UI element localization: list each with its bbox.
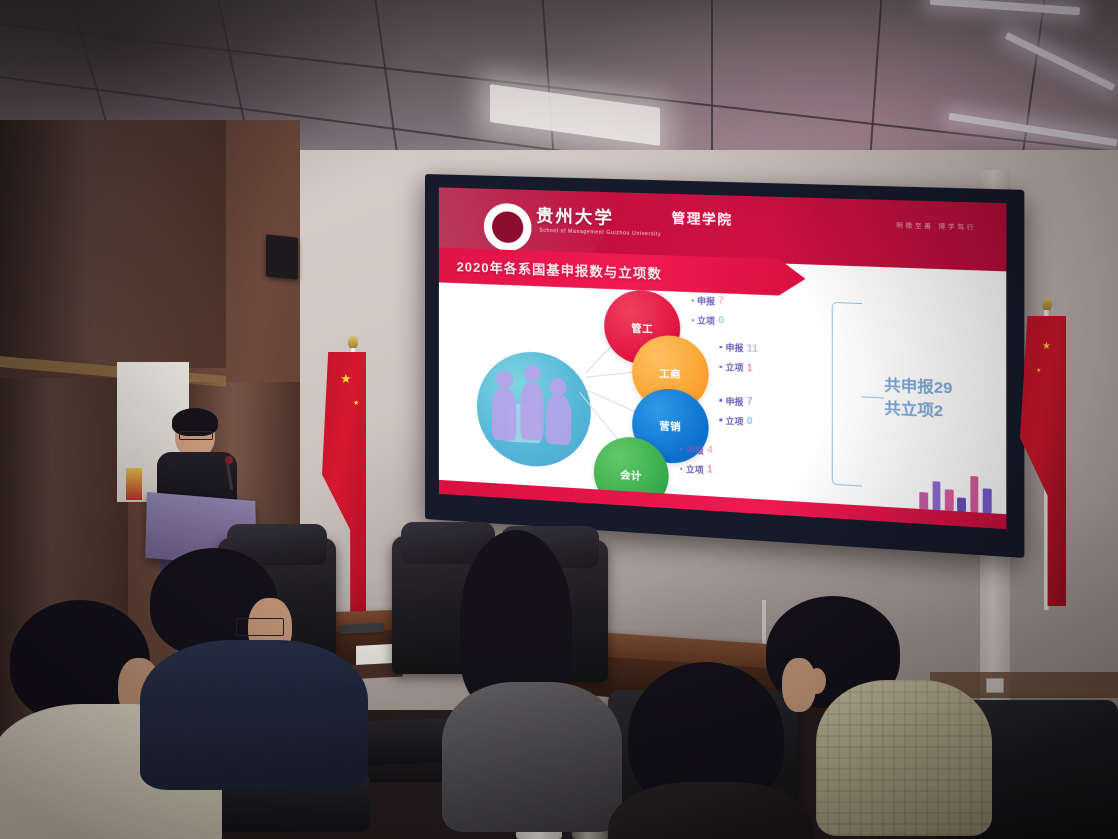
person-plaid-jacket bbox=[816, 680, 992, 836]
stat-label: 立项 bbox=[725, 361, 743, 374]
slide-title: 2020年各系国基申报数与立项数 bbox=[439, 255, 662, 282]
hub-figure-body bbox=[492, 387, 516, 440]
flag-star-icon: ★ bbox=[1042, 342, 1051, 352]
audience-member bbox=[752, 596, 972, 839]
person-jacket bbox=[442, 682, 622, 832]
audience-member bbox=[140, 548, 370, 798]
bullet-icon bbox=[720, 399, 723, 402]
seal-inner bbox=[492, 211, 524, 244]
school-motto: 明德至善 博学笃行 bbox=[896, 220, 976, 232]
stat-approved: 立项 1 bbox=[680, 462, 823, 483]
summary-bracket-stem bbox=[861, 396, 884, 399]
slide-body: 管工 工商 营销 会计 申报 bbox=[439, 282, 1006, 514]
flag-star-icon: ★ bbox=[353, 400, 359, 407]
summary-totals: 共申报29 共立项2 bbox=[884, 374, 952, 423]
stat-value: 1 bbox=[747, 362, 753, 374]
department-stats-3: 申报 4 立项 1 bbox=[680, 443, 823, 491]
department-name: 会计 bbox=[620, 466, 642, 483]
team-people-icon bbox=[476, 349, 590, 469]
presenter-glasses bbox=[179, 431, 213, 440]
department-name: 工商 bbox=[659, 365, 681, 381]
bullet-icon bbox=[720, 366, 723, 369]
wall-outlet bbox=[986, 678, 1004, 693]
stat-label: 申报 bbox=[697, 294, 715, 307]
university-name: 贵州大学 bbox=[536, 201, 614, 229]
stat-value: 0 bbox=[718, 315, 724, 327]
person-jacket bbox=[140, 640, 368, 790]
flag-star-icon: ★ bbox=[340, 372, 352, 385]
hub-figure-body bbox=[546, 394, 571, 446]
stat-value: 7 bbox=[718, 296, 724, 308]
stat-label: 申报 bbox=[725, 394, 743, 407]
bullet-icon bbox=[720, 346, 723, 349]
hub-figure-head bbox=[549, 378, 566, 396]
stat-label: 立项 bbox=[686, 463, 704, 476]
deco-bar bbox=[970, 476, 978, 513]
summary-bracket bbox=[832, 302, 862, 487]
bullet-icon bbox=[680, 448, 683, 451]
school-name: 管理学院 bbox=[672, 207, 733, 228]
bar-chart-graphic bbox=[920, 468, 992, 514]
conference-room-photo: 贵州大学 School of Management Guizhou Univer… bbox=[0, 0, 1118, 839]
stat-label: 立项 bbox=[725, 414, 743, 427]
university-seal-icon bbox=[484, 203, 531, 252]
bullet-icon bbox=[680, 467, 683, 470]
stat-label: 申报 bbox=[686, 443, 704, 456]
hub-figure-head bbox=[496, 371, 513, 389]
presentation-display[interactable]: 贵州大学 School of Management Guizhou Univer… bbox=[425, 174, 1024, 558]
stat-value: 0 bbox=[747, 416, 753, 428]
stat-value: 7 bbox=[747, 396, 753, 408]
deco-bar bbox=[983, 488, 991, 514]
total-approved: 共立项2 bbox=[884, 397, 952, 423]
presenter bbox=[155, 412, 239, 504]
stat-label: 申报 bbox=[725, 341, 743, 354]
department-stats-0: 申报 7 立项 0 bbox=[691, 294, 834, 339]
stat-applied: 申报 7 bbox=[691, 294, 834, 312]
slide-page-number: 14 bbox=[450, 472, 457, 478]
hub-figure-head bbox=[524, 365, 540, 382]
total-applied: 共申报29 bbox=[884, 374, 952, 400]
bullet-icon bbox=[691, 299, 694, 302]
podium-book bbox=[126, 468, 142, 500]
wood-panel bbox=[0, 120, 226, 368]
screen-bezel: 贵州大学 School of Management Guizhou Univer… bbox=[439, 187, 1006, 529]
department-name: 营销 bbox=[659, 418, 681, 435]
bullet-icon bbox=[720, 419, 723, 422]
flag-star-icon: ★ bbox=[1036, 368, 1041, 374]
department-name: 管工 bbox=[631, 319, 653, 335]
eyeglasses-icon bbox=[236, 618, 284, 636]
stat-value: 11 bbox=[747, 343, 758, 355]
person-face bbox=[782, 658, 816, 712]
presentation-slide: 贵州大学 School of Management Guizhou Univer… bbox=[439, 187, 1006, 529]
deco-bar bbox=[932, 482, 940, 511]
audience-member bbox=[448, 530, 618, 820]
deco-bar bbox=[945, 489, 953, 511]
microphone-head bbox=[225, 456, 233, 464]
stat-label: 立项 bbox=[697, 314, 715, 327]
stat-value: 1 bbox=[707, 464, 713, 476]
bullet-icon bbox=[691, 319, 694, 322]
deco-bar bbox=[920, 492, 928, 510]
stat-approved: 立项 0 bbox=[691, 314, 834, 332]
hub-figure-body bbox=[521, 382, 544, 440]
deco-bar bbox=[957, 497, 965, 512]
stat-applied: 申报 4 bbox=[680, 443, 823, 463]
stat-value: 4 bbox=[707, 445, 713, 457]
wall-mounted-loudspeaker bbox=[266, 234, 298, 279]
